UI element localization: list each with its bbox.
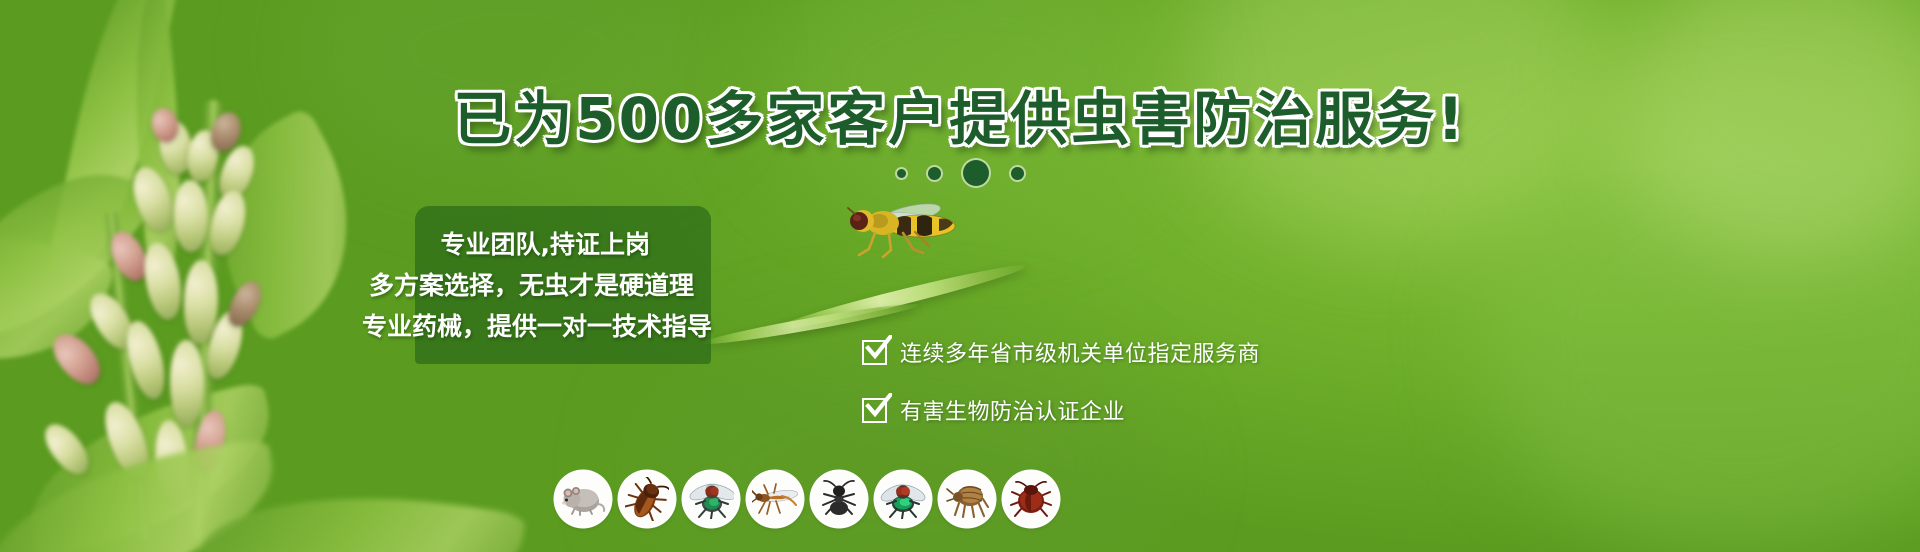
ant-icon[interactable] (812, 472, 866, 526)
banner-headline: 已为500多家客户提供虫害防治服务! (0, 72, 1920, 156)
dot-large (963, 160, 989, 186)
pest-icons-row (556, 472, 1058, 526)
feature-highlight-box (415, 206, 711, 364)
fly-icon[interactable] (684, 472, 738, 526)
credentials-list: 连续多年省市级机关单位指定服务商 有害生物防治认证企业 (862, 336, 1260, 426)
credential-item: 有害生物防治认证企业 (862, 394, 1260, 426)
decorative-dots (0, 160, 1920, 186)
credential-label: 有害生物防治认证企业 (900, 394, 1125, 426)
pest-control-banner: 已为500多家客户提供虫害防治服务! 专业团队,持证上岗 多方案选择，无虫才是硬… (0, 0, 1920, 552)
bedbug-icon[interactable] (1004, 472, 1058, 526)
credential-label: 连续多年省市级机关单位指定服务商 (900, 336, 1260, 368)
dot-small-2 (1011, 167, 1024, 180)
mouse-icon[interactable] (556, 472, 610, 526)
flea-icon[interactable] (940, 472, 994, 526)
fly-green-icon[interactable] (876, 472, 930, 526)
dot-medium (928, 167, 941, 180)
checkbox-checked-icon (862, 398, 887, 423)
dot-small-1 (897, 169, 906, 178)
cockroach-icon[interactable] (620, 472, 674, 526)
credential-item: 连续多年省市级机关单位指定服务商 (862, 336, 1260, 368)
checkbox-checked-icon (862, 340, 887, 365)
mosquito-icon[interactable] (748, 472, 802, 526)
